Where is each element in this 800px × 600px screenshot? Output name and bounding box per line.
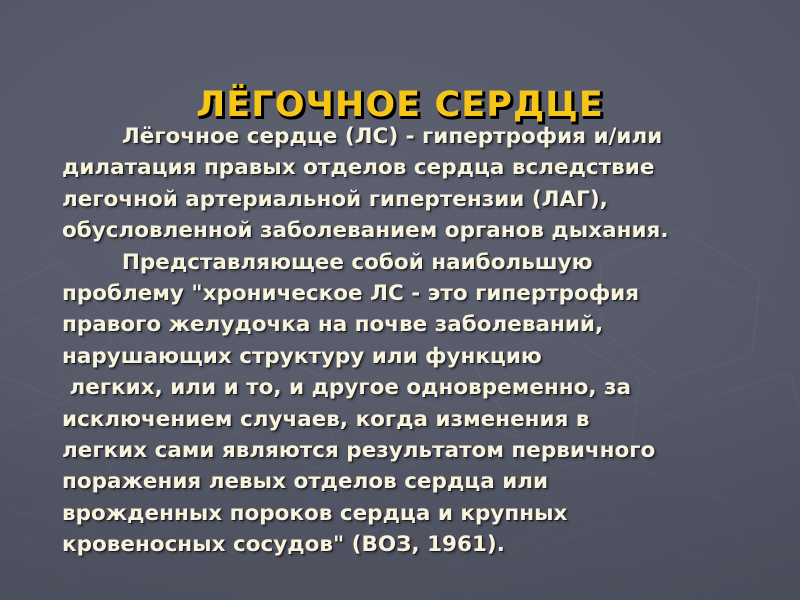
body-line: нарушающих структуру или функцию xyxy=(62,341,768,372)
body-line: обусловленной заболеванием органов дыхан… xyxy=(62,215,768,246)
presentation-slide: ЛЁГОЧНОЕ СЕРДЦЕ Лёгочное сердце (ЛС) - г… xyxy=(0,0,800,600)
body-line: легких сами являются результатом первичн… xyxy=(62,435,768,466)
body-line: дилатация правых отделов сердца вследств… xyxy=(62,152,768,183)
body-line: кровеносных сосудов" (ВОЗ, 1961). xyxy=(62,529,768,560)
body-line: Лёгочное сердце (ЛС) - гипертрофия и/или xyxy=(62,121,768,152)
body-line: врожденных пороков сердца и крупных xyxy=(62,498,768,529)
body-line: легочной артериальной гипертензии (ЛАГ), xyxy=(62,184,768,215)
body-line: Представляющее собой наибольшую xyxy=(62,247,768,278)
body-line: проблему "хроническое ЛС - это гипертроф… xyxy=(62,278,768,309)
slide-body-text: Лёгочное сердце (ЛС) - гипертрофия и/или… xyxy=(62,121,768,561)
body-line: легких, или и то, и другое одновременно,… xyxy=(62,372,768,403)
body-line: исключением случаев, когда изменения в xyxy=(62,404,768,435)
body-line: поражения левых отделов сердца или xyxy=(62,466,768,497)
body-line: правого желудочка на почве заболеваний, xyxy=(62,309,768,340)
slide-title: ЛЁГОЧНОЕ СЕРДЦЕ xyxy=(196,85,604,125)
